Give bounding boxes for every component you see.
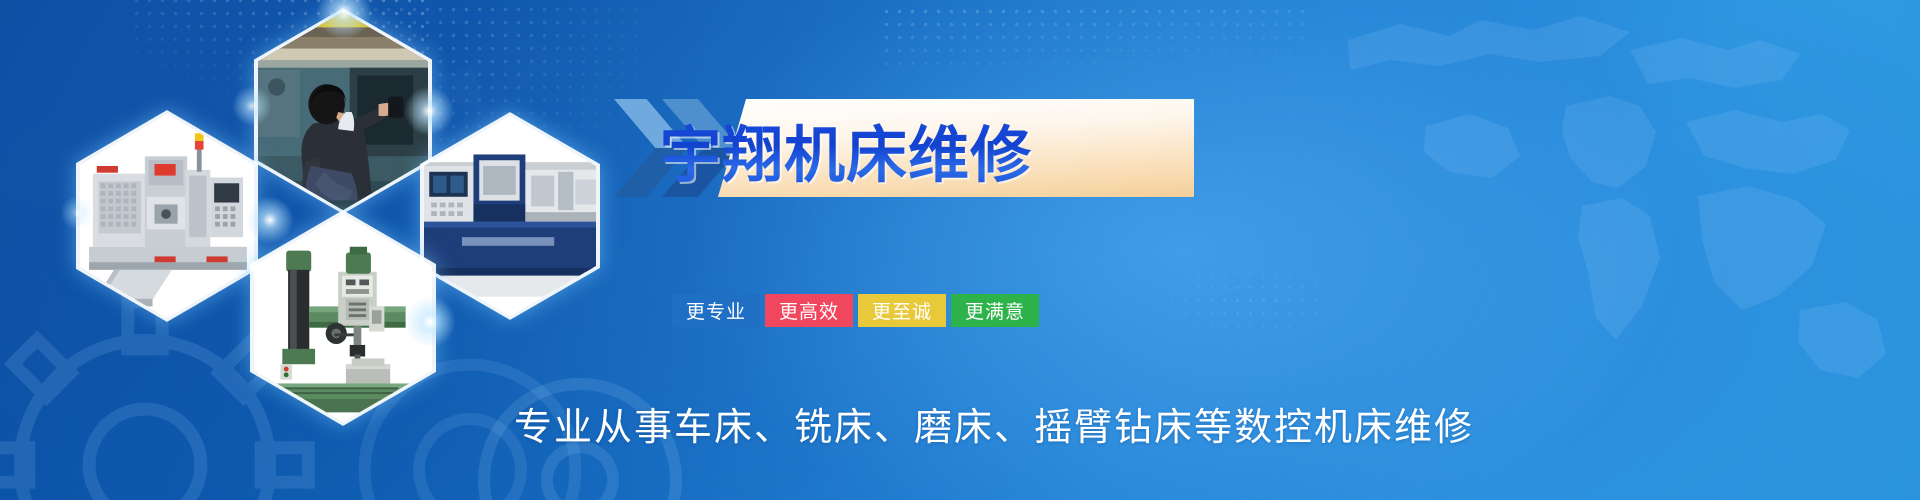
brand-title: 宇翔机床维修 [660, 104, 1160, 194]
sparkle-glow [404, 86, 454, 136]
photo-cnc-lathe [424, 116, 596, 316]
sparkle-glow [60, 196, 94, 230]
feature-tag-list: 更专业 更高效 更至诚 更满意 [672, 294, 1039, 327]
world-map-watermark [1330, 10, 1920, 430]
banner-subtitle: 专业从事车床、铣床、磨床、摇臂钻床等数控机床维修 [514, 396, 1474, 451]
photo-cnc-milling-machine [80, 114, 254, 318]
dot-matrix-texture [1140, 255, 1330, 345]
feature-tag-satisfying[interactable]: 更满意 [951, 294, 1039, 327]
photo-technician-repairing-machine [258, 12, 428, 210]
sparkle-glow [246, 196, 294, 244]
sparkle-glow [232, 86, 272, 126]
feature-tag-efficient[interactable]: 更高效 [765, 294, 853, 327]
promotional-banner: 宇翔机床维修 更专业 更高效 更至诚 更满意 专业从事车床、铣床、磨床、摇臂钻床… [0, 0, 1920, 500]
feature-tag-professional[interactable]: 更专业 [672, 294, 760, 327]
sparkle-glow [404, 296, 456, 348]
feature-tag-sincere[interactable]: 更至诚 [858, 294, 946, 327]
dot-matrix-texture [880, 0, 1310, 72]
hexagon-cnc-milling-machine[interactable] [76, 110, 258, 322]
hexagon-cnc-lathe[interactable] [420, 112, 600, 320]
